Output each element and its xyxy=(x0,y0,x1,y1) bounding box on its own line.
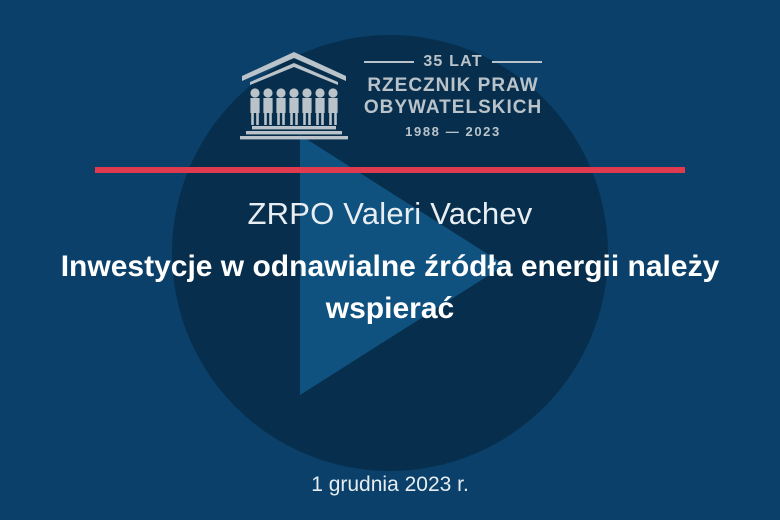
rpo-temple-people-icon xyxy=(238,50,350,142)
video-thumbnail-card: 35 LAT RZECZNIK PRAW OBYWATELSKICH 1988 … xyxy=(0,0,780,520)
organisation-logo: 35 LAT RZECZNIK PRAW OBYWATELSKICH 1988 … xyxy=(0,46,780,146)
speaker-name: ZRPO Valeri Vachev xyxy=(0,196,780,232)
institution-line-2: OBYWATELSKICH xyxy=(364,98,542,117)
logo-wordmark: 35 LAT RZECZNIK PRAW OBYWATELSKICH 1988 … xyxy=(364,54,542,138)
logo-year-range: 1988 — 2023 xyxy=(405,125,501,138)
institution-line-1: RZECZNIK PRAW xyxy=(367,76,538,95)
anniversary-row: 35 LAT xyxy=(364,54,542,70)
anniversary-label: 35 LAT xyxy=(414,54,491,70)
red-accent-divider xyxy=(95,167,685,173)
title-block: ZRPO Valeri Vachev Inwestycje w odnawial… xyxy=(0,196,780,331)
anniversary-rule-right xyxy=(492,61,543,63)
headline-title: Inwestycje w odnawialne źródła energii n… xyxy=(0,246,780,331)
publication-date: 1 grudnia 2023 r. xyxy=(0,473,780,497)
anniversary-rule-left xyxy=(364,61,415,63)
